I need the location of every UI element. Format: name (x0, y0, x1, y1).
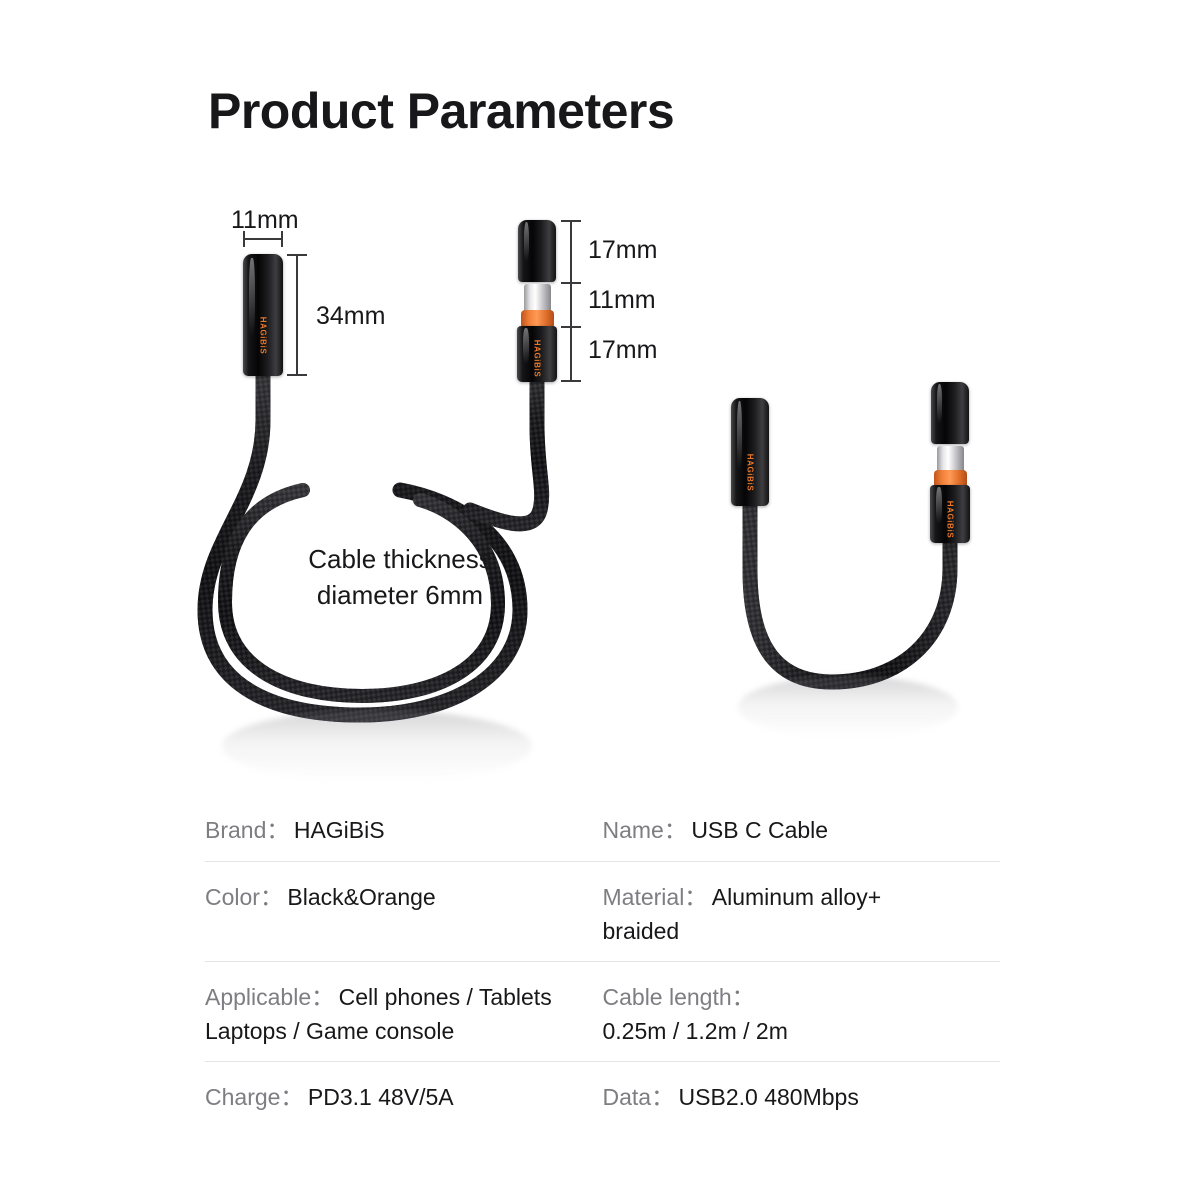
left-female-connector: HAGiBiS (243, 254, 283, 376)
length-dimension-tick-top (287, 254, 307, 256)
reflection-left (222, 710, 532, 782)
dimension-label-34mm: 34mm (316, 302, 385, 331)
spec-cell-color: Color： Black&Orange (205, 878, 603, 945)
spec-label-brand: Brand： (205, 817, 289, 843)
spec-cell-name: Name： USB C Cable (603, 811, 1001, 845)
spec-cell-charge: Charge： PD3.1 48V/5A (205, 1078, 603, 1112)
page-title: Product Parameters (208, 82, 674, 140)
connector-lower-body: HAGiBiS (517, 326, 557, 382)
width-dimension-line (243, 238, 283, 240)
segment-dimension-line (570, 220, 572, 382)
spec-value-charge: PD3.1 48V/5A (308, 1084, 454, 1110)
spec-value-material-line2: braided (603, 918, 987, 945)
dimension-label-17mm-top: 17mm (588, 236, 657, 265)
brand-print-right-female: HAGiBiS (746, 441, 755, 505)
spec-cell-applicable: Applicable： Cell phones / Tablets Laptop… (205, 978, 603, 1045)
spec-label-material: Material： (603, 884, 708, 910)
segment-tick-1 (561, 282, 581, 284)
right-connector-lower-body: HAGiBiS (930, 485, 970, 543)
spec-label-color: Color： (205, 884, 283, 910)
table-row: Brand： HAGiBiS Name： USB C Cable (205, 795, 1000, 862)
spec-value-applicable-line2: Laptops / Game console (205, 1018, 589, 1045)
spec-value-data: USB2.0 480Mbps (679, 1084, 859, 1110)
brand-print-right-male: HAGiBiS (946, 488, 955, 552)
spec-label-name: Name： (603, 817, 687, 843)
right-female-connector: HAGiBiS (731, 398, 769, 506)
spec-label-data: Data： (603, 1084, 675, 1110)
segment-tick-2 (561, 326, 581, 328)
table-row: Applicable： Cell phones / Tablets Laptop… (205, 962, 1000, 1062)
spec-label-cable-length: Cable length： (603, 984, 755, 1010)
spec-value-applicable: Cell phones / Tablets (339, 984, 552, 1010)
spec-cell-data: Data： USB2.0 480Mbps (603, 1078, 1001, 1112)
table-row: Charge： PD3.1 48V/5A Data： USB2.0 480Mbp… (205, 1062, 1000, 1128)
reflection-right (738, 676, 958, 738)
product-parameters-page: Product Parameters (0, 0, 1200, 1200)
length-dimension-line (296, 254, 298, 376)
brand-print-left: HAGiBiS (259, 304, 268, 368)
dimension-label-17mm-bottom: 17mm (588, 336, 657, 365)
length-dimension-tick-bottom (287, 374, 307, 376)
spec-value-color: Black&Orange (287, 884, 435, 910)
spec-label-applicable: Applicable： (205, 984, 334, 1010)
cable-thickness-note: Cable thickness diameter 6mm (255, 542, 545, 614)
right-detached-cap (931, 382, 969, 444)
spec-value-cable-length: 0.25m / 1.2m / 2m (603, 1018, 987, 1045)
spec-label-charge: Charge： (205, 1084, 303, 1110)
product-illustration: HAGiBiS HAGiBiS 11mm 34mm 17mm 11mm 17mm… (0, 170, 1200, 790)
specifications-table: Brand： HAGiBiS Name： USB C Cable Color： … (205, 795, 1000, 1128)
table-row: Color： Black&Orange Material： Aluminum a… (205, 862, 1000, 962)
segment-tick-3 (561, 380, 581, 382)
detached-cap-top (518, 220, 556, 282)
brand-print-mid: HAGiBiS (533, 327, 542, 391)
segment-tick-0 (561, 220, 581, 222)
spec-value-brand: HAGiBiS (294, 817, 385, 843)
dimension-label-11mm-width: 11mm (231, 206, 299, 235)
dimension-label-11mm-tip: 11mm (588, 286, 656, 315)
spec-value-material: Aluminum alloy+ (712, 884, 881, 910)
spec-value-name: USB C Cable (691, 817, 828, 843)
spec-cell-brand: Brand： HAGiBiS (205, 811, 603, 845)
spec-cell-cable-length: Cable length： 0.25m / 1.2m / 2m (603, 978, 1001, 1045)
spec-cell-material: Material： Aluminum alloy+ braided (603, 878, 1001, 945)
